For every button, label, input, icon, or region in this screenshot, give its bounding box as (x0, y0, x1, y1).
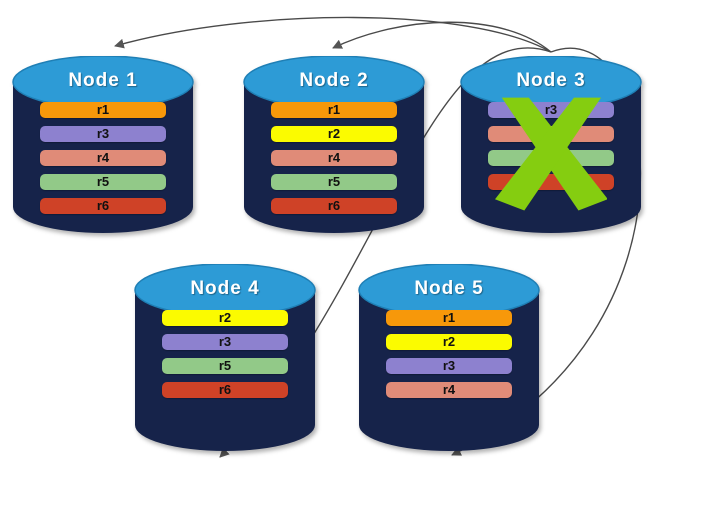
node-5[interactable]: Node 5r1r2r3r4 (358, 264, 540, 452)
cylinder-top-disc (13, 56, 193, 108)
replica-row[interactable]: r4 (386, 382, 512, 398)
replica-row[interactable]: r3 (162, 334, 288, 350)
replica-row[interactable]: r1 (386, 310, 512, 326)
cylinder-top-disc (244, 56, 424, 108)
replica-row[interactable]: r5 (271, 174, 397, 190)
replica-row[interactable]: r3 (488, 102, 614, 118)
replica-row[interactable]: r5 (162, 358, 288, 374)
node-2-replica-list: r1r2r4r5r6 (243, 102, 425, 214)
node-3-replica-list: r3 (460, 102, 642, 190)
replica-row[interactable]: r2 (271, 126, 397, 142)
replica-row[interactable] (488, 150, 614, 166)
edge-node3-to-node2 (333, 22, 551, 52)
replica-row[interactable]: r6 (40, 198, 166, 214)
edge-node3-to-node1 (115, 17, 551, 52)
replica-row[interactable]: r4 (40, 150, 166, 166)
cylinder-top-disc (135, 264, 315, 316)
node-4[interactable]: Node 4r2r3r5r6 (134, 264, 316, 452)
replica-row[interactable]: r1 (271, 102, 397, 118)
replica-row[interactable]: r5 (40, 174, 166, 190)
replica-row[interactable]: r6 (271, 198, 397, 214)
diagram-canvas: Node 1r1r3r4r5r6Node 2r1r2r4r5r6Node 3r3… (0, 0, 708, 508)
node-4-replica-list: r2r3r5r6 (134, 310, 316, 398)
node-3[interactable]: Node 3r3 (460, 56, 642, 234)
node-1-replica-list: r1r3r4r5r6 (12, 102, 194, 214)
replica-row[interactable]: r4 (271, 150, 397, 166)
cylinder-top-disc (461, 56, 641, 108)
replica-row[interactable] (488, 126, 614, 142)
cylinder-top-disc (359, 264, 539, 316)
replica-row[interactable]: r2 (386, 334, 512, 350)
replica-row[interactable] (488, 174, 614, 190)
replica-row[interactable]: r3 (386, 358, 512, 374)
node-2[interactable]: Node 2r1r2r4r5r6 (243, 56, 425, 234)
replica-row[interactable]: r2 (162, 310, 288, 326)
node-1[interactable]: Node 1r1r3r4r5r6 (12, 56, 194, 234)
replica-row[interactable]: r1 (40, 102, 166, 118)
replica-row[interactable]: r3 (40, 126, 166, 142)
node-5-replica-list: r1r2r3r4 (358, 310, 540, 398)
replica-row[interactable]: r6 (162, 382, 288, 398)
